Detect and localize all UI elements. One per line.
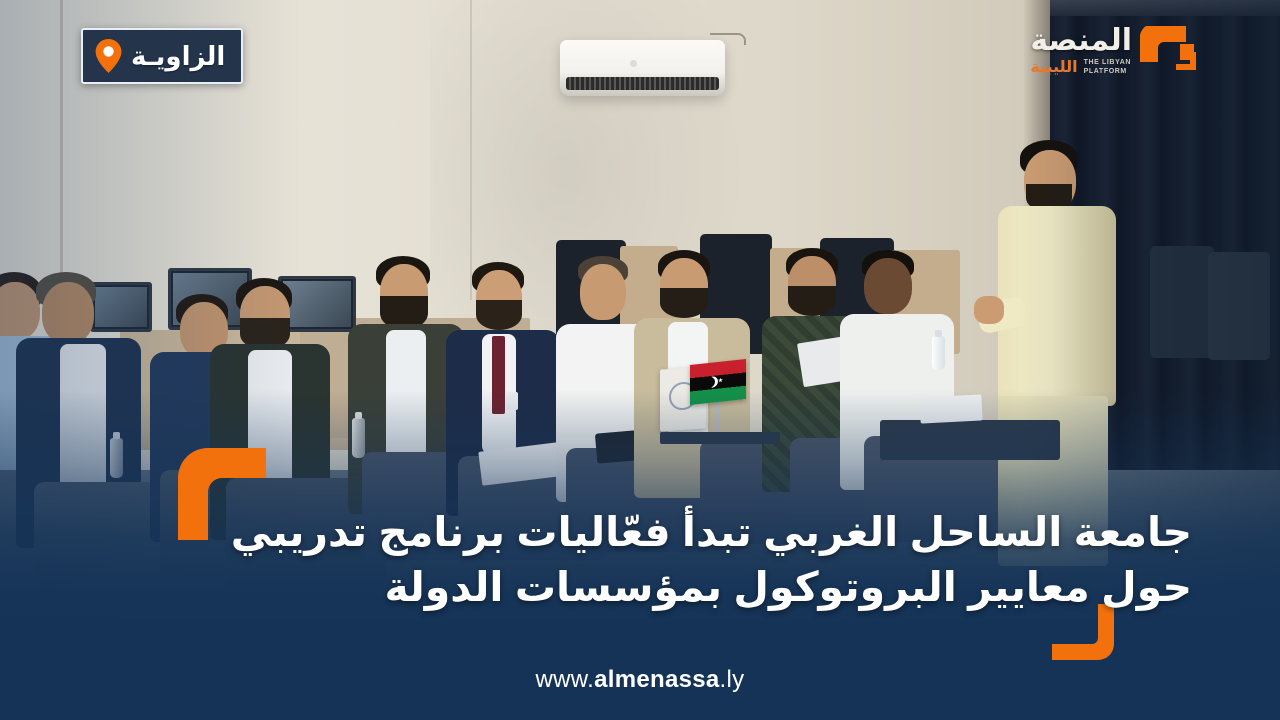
flag-crescent [704,376,715,388]
site-logo[interactable]: المنصة THE LIBYAN PLATFORM الليبية [1030,22,1202,80]
air-conditioner-icon [560,40,725,96]
headline-line-1: جامعة الساحل الغربي تبدأ فعّاليات برنامج… [150,505,1192,560]
logo-english: THE LIBYAN PLATFORM [1084,59,1131,77]
ac-led [630,60,637,67]
url-prefix: www. [536,666,595,693]
news-card: الزاويـة المنصة THE LIBYAN PLATFORM اللي… [0,0,1280,720]
url-brand: almenassa [594,666,719,693]
headline: جامعة الساحل الغربي تبدأ فعّاليات برنامج… [150,505,1192,614]
wall-seam-mid [470,0,472,300]
logo-arabic-secondary: الليبية [1030,60,1077,76]
flag-star [718,377,723,383]
map-pin-icon [95,39,122,73]
logo-arabic-primary: المنصة [1030,26,1132,56]
location-badge: الزاويـة [81,28,243,84]
quote-bracket-mark-icon [1140,22,1202,80]
website-url[interactable]: www.almenassa.ly [0,666,1280,694]
headline-line-2: حول معايير البروتوكول بمؤسسات الدولة [150,560,1192,615]
logo-english-line1: THE LIBYAN [1084,59,1131,66]
ac-vent [566,77,719,90]
location-label: الزاويـة [131,43,225,69]
logo-wordmark: المنصة THE LIBYAN PLATFORM الليبية [1030,26,1132,77]
logo-subline: THE LIBYAN PLATFORM الليبية [1030,59,1131,77]
logo-english-line2: PLATFORM [1084,68,1127,75]
ac-bracket [710,33,746,45]
url-suffix: .ly [720,666,745,693]
water-bottle [932,336,945,370]
